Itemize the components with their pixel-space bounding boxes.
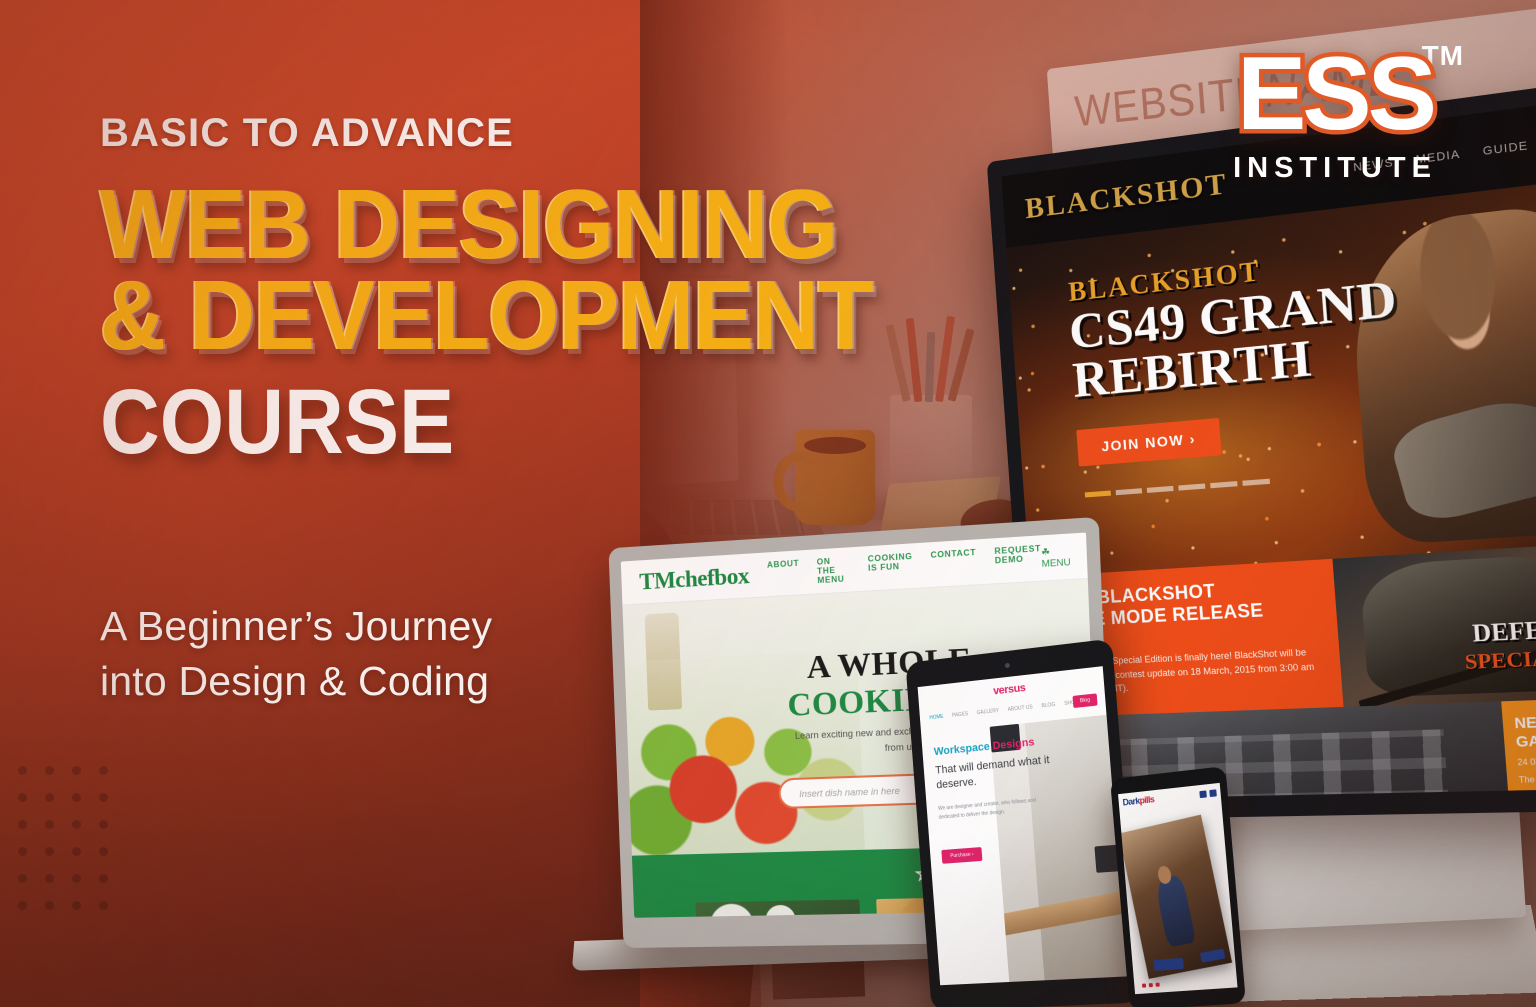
logo-wordmark: ESS [1220,42,1450,146]
logo-subtitle: INSTITUTE [1220,152,1450,185]
menu-icon[interactable] [1209,789,1217,797]
darkpills-logo-part2: pills [1139,794,1154,805]
chefbox-nav-item[interactable]: CONTACT [930,548,977,579]
phone-header-icons [1199,789,1217,798]
side-news-line1: NEW [1514,713,1536,732]
workspace-photo [990,715,1127,982]
versus-headline-line1: That will demand [935,757,1016,776]
chefbox-nav-links: ABOUT ON THE MENU COOKING IS FUN CONTACT… [767,544,1042,588]
poster-tag-badge[interactable] [1154,958,1184,971]
promo-card[interactable]: DEFEAT THE G SPECIAL EDITION [1332,538,1536,706]
dot-grid-decoration [18,766,126,928]
versus-nav-item[interactable]: HOME [929,714,944,721]
chefbox-logo[interactable]: TMchefbox [639,562,750,595]
headline-line-2: & DEVELOPMENT [100,270,807,361]
dish-card-image[interactable] [696,899,862,917]
dish-search-placeholder: Insert dish name in here [799,786,900,800]
phone-screen: Darkpills [1118,783,1237,994]
side-news-line2: GAM [1515,731,1536,750]
side-news-date: 24 03, [1517,753,1536,767]
versus-purchase-button[interactable]: Purchase › [941,847,982,864]
versus-nav-item[interactable]: BLOG [1041,702,1055,709]
chefbox-nav-item[interactable]: ON THE MENU [817,556,851,586]
versus-accent-word1: Workspace [933,741,990,758]
phone-carousel-dots[interactable] [1142,983,1160,988]
eyebrow-text: BASIC TO ADVANCE [100,113,860,153]
main-headline: WEB DESIGNING & DEVELOPMENT [100,179,807,361]
movie-figure-art [1154,874,1196,947]
darkpills-header: Darkpills [1118,783,1221,812]
tablet-device: versus HOME PAGES GALLERY ABOUT US BLOG … [905,639,1140,1007]
blackshot-nav-item[interactable]: GUIDE [1482,140,1528,159]
chefbox-nav-item[interactable]: COOKING IS FUN [868,552,914,583]
side-news-title: NEW GAM [1514,709,1536,751]
chefbox-nav-item[interactable]: REQUEST DEMO [994,544,1042,575]
darkpills-logo-part1: Dark [1122,796,1140,808]
smartphone-device: Darkpills [1110,766,1246,1007]
versus-nav-item[interactable]: GALLERY [977,708,1000,716]
ess-institute-logo[interactable]: TM ESS INSTITUTE [1220,42,1450,185]
darkpills-logo[interactable]: Darkpills [1122,794,1154,807]
versus-blog-button[interactable]: Blog [1072,693,1097,708]
tablet-bezel: versus HOME PAGES GALLERY ABOUT US BLOG … [905,639,1140,1007]
blackshot-logo[interactable]: BLACKSHOT [1024,167,1229,226]
headline-line-3: COURSE [100,379,784,466]
versus-nav-item[interactable]: ABOUT US [1008,704,1033,713]
phone-bezel: Darkpills [1110,766,1246,1007]
chefbox-nav-item[interactable]: ABOUT [767,559,800,588]
promotional-banner: WEBSITENAME Name PAGE2 PAGE3 BLACKSHOT N… [0,0,1536,1007]
grid-icon[interactable] [1199,790,1207,798]
versus-logo[interactable]: versus [993,682,1026,697]
tablet-camera [1005,663,1010,669]
headline-line-1: WEB DESIGNING [100,179,807,270]
side-news-body: The B [1518,770,1536,787]
versus-nav-item[interactable]: PAGES [952,711,969,719]
chefbox-menu-icon[interactable]: ☘ MENU [1041,545,1072,569]
tablet-screen: versus HOME PAGES GALLERY ABOUT US BLOG … [918,666,1128,985]
